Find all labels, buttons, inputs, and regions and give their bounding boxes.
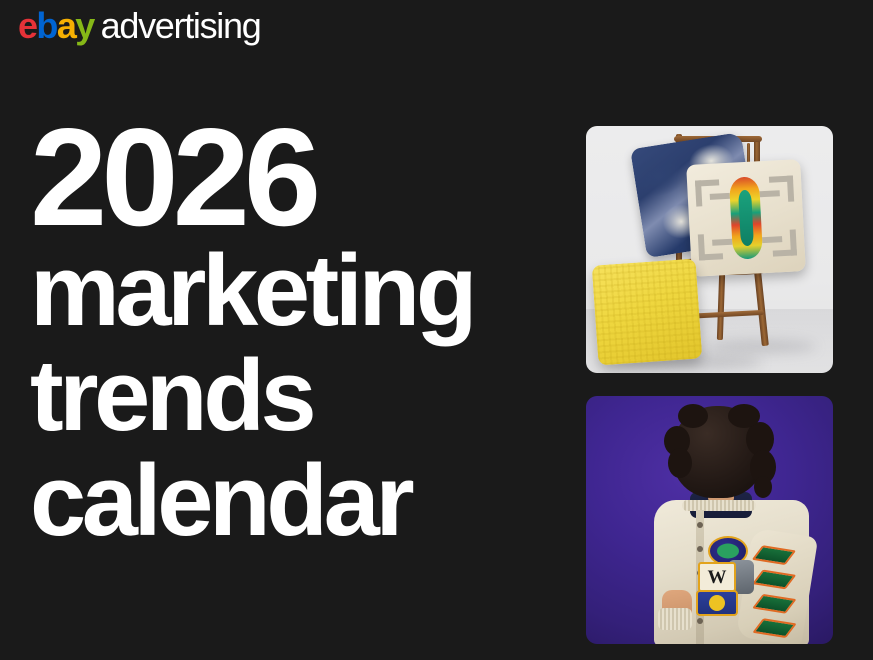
ebay-letter-a: a [57,8,75,44]
ebay-letter-e: e [18,8,36,44]
headline-line-calendar: calendar [30,449,590,554]
ebay-advertising-logo[interactable]: ebay advertising [18,8,260,44]
media-card-stack: W [586,126,833,644]
headline-line-trends: trends [30,344,590,449]
ebay-letter-y: y [75,8,93,44]
jacket-patch-letter: W [698,562,736,592]
yellow-knit-pillow [592,258,703,365]
poster-canvas: ebay advertising 2026 marketing trends c… [0,0,873,660]
pillows-on-chair-photo [586,126,833,373]
headline-line-marketing: marketing [30,239,590,344]
jacket-cuff [658,608,692,630]
page-title: 2026 marketing trends calendar [30,117,590,554]
jacket-neck-rib [682,500,756,511]
model-figure: W [624,404,809,644]
ebay-wordmark: ebay [18,8,94,44]
patterned-pillow [686,159,806,277]
jacket-patch-badge [696,590,738,616]
headline-line-year: 2026 [30,117,590,239]
advertising-wordmark: advertising [101,8,261,44]
ebay-letter-b: b [36,8,56,44]
varsity-jacket-model-photo: W [586,396,833,644]
